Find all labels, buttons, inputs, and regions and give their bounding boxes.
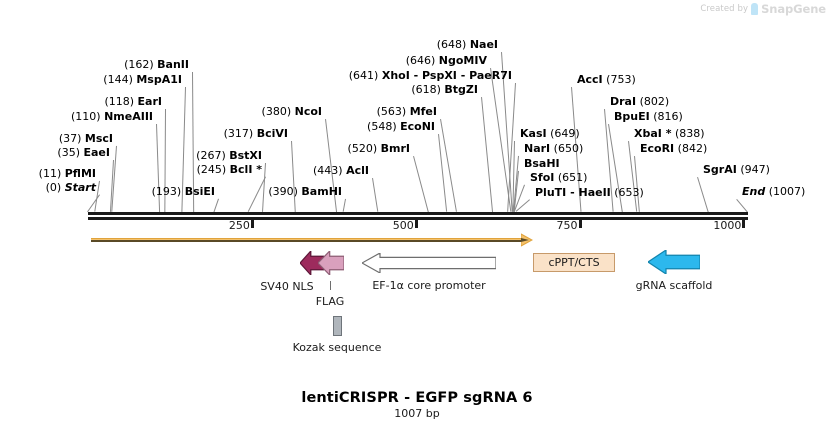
ruler-label-1000: 1000 <box>713 219 741 232</box>
enzyme-position: (11) <box>39 167 65 180</box>
leader-line <box>481 97 493 212</box>
flag-connector-tick <box>330 281 331 290</box>
feature-flag[interactable] <box>318 251 344 275</box>
enzyme-label-ngomiv[interactable]: (646) NgoMIV <box>406 55 487 67</box>
enzyme-name: XhoI - PspXI - PaeR7I <box>382 69 512 82</box>
enzyme-name: BanII <box>157 58 189 71</box>
snapgene-logo-icon <box>751 3 758 15</box>
enzyme-name: BsiEI <box>185 185 215 198</box>
enzyme-label-drai[interactable]: DraI (802) <box>610 96 669 108</box>
enzyme-label-acci[interactable]: AccI (753) <box>577 74 636 86</box>
enzyme-label-nmeaiii[interactable]: (110) NmeAIII <box>71 111 153 123</box>
feature-grna-scaffold[interactable] <box>648 250 700 274</box>
enzyme-position: (380) <box>262 105 295 118</box>
ruler-label-250: 250 <box>229 219 250 232</box>
leader-line <box>440 119 457 212</box>
enzyme-label-bamhi[interactable]: (390) BamHI <box>268 186 342 198</box>
enzyme-label-start[interactable]: (0) Start <box>46 182 96 194</box>
enzyme-position: (37) <box>59 132 85 145</box>
enzyme-position: (1007) <box>765 185 805 198</box>
enzyme-position: (162) <box>124 58 157 71</box>
enzyme-position: (548) <box>367 120 400 133</box>
feature-kozak-sequence[interactable] <box>333 316 342 336</box>
enzyme-label-ecori[interactable]: EcoRI (842) <box>640 143 707 155</box>
credit-brand: SnapGene <box>761 2 826 16</box>
enzyme-name: Start <box>65 181 96 194</box>
leader-line <box>490 68 511 212</box>
enzyme-label-msci[interactable]: (37) MscI <box>59 133 113 145</box>
enzyme-label-nari[interactable]: NarI (650) <box>524 143 583 155</box>
feature-label-ef1a-promoter: EF-1α core promoter <box>372 279 485 292</box>
enzyme-position: (646) <box>406 54 439 67</box>
enzyme-name: SgrAI <box>703 163 737 176</box>
enzyme-position: (838) <box>671 127 704 140</box>
enzyme-position: (520) <box>348 142 381 155</box>
enzyme-label-banii[interactable]: (162) BanII <box>124 59 189 71</box>
enzyme-position: (802) <box>636 95 669 108</box>
leader-line <box>343 199 346 212</box>
enzyme-label-bstxi[interactable]: (267) BstXI <box>196 150 262 162</box>
enzyme-position: (648) <box>437 38 470 51</box>
enzyme-position: (650) <box>550 142 583 155</box>
enzyme-position: (193) <box>152 185 185 198</box>
enzyme-label-ncoi[interactable]: (380) NcoI <box>262 106 322 118</box>
enzyme-label-pluti-haeii[interactable]: PluTI - HaeII (653) <box>535 187 644 199</box>
enzyme-name: PluTI - HaeII <box>535 186 611 199</box>
enzyme-name: XbaI * <box>634 127 671 140</box>
orf-arrow-head <box>521 233 533 247</box>
enzyme-name: BpuEI <box>614 110 650 123</box>
ruler-label-750: 750 <box>557 219 578 232</box>
enzyme-label-bsahi[interactable]: BsaHI <box>524 158 560 170</box>
enzyme-label-xbai[interactable]: XbaI * (838) <box>634 128 705 140</box>
enzyme-position: (35) <box>57 146 83 159</box>
enzyme-label-btgzi[interactable]: (618) BtgZI <box>411 84 478 96</box>
enzyme-position: (443) <box>313 164 346 177</box>
enzyme-position: (618) <box>411 83 444 96</box>
credit-prefix: Created by <box>700 4 748 14</box>
enzyme-label-xhoi-pspxi-paer7i[interactable]: (641) XhoI - PspXI - PaeR7I <box>349 70 512 82</box>
snapgene-credit: Created by SnapGene <box>700 2 826 16</box>
leader-line <box>156 124 160 212</box>
enzyme-name: MscI <box>85 132 113 145</box>
enzyme-name: DraI <box>610 95 636 108</box>
enzyme-label-bpuei[interactable]: BpuEI (816) <box>614 111 683 123</box>
enzyme-position: (390) <box>268 185 301 198</box>
enzyme-label-econi[interactable]: (548) EcoNI <box>367 121 435 133</box>
backbone-line-bottom <box>88 217 748 220</box>
enzyme-label-eaei[interactable]: (35) EaeI <box>57 147 110 159</box>
orf-arrow-shaft[interactable] <box>91 238 522 242</box>
enzyme-name: NgoMIV <box>439 54 487 67</box>
enzyme-name: BmrI <box>381 142 410 155</box>
enzyme-name: EaeI <box>84 146 111 159</box>
leader-line <box>372 178 378 212</box>
enzyme-position: (0) <box>46 181 65 194</box>
enzyme-name: End <box>742 185 765 198</box>
ruler-label-500: 500 <box>393 219 414 232</box>
enzyme-position: (641) <box>349 69 382 82</box>
enzyme-label-mfei[interactable]: (563) MfeI <box>377 106 437 118</box>
ruler-tick-750 <box>579 220 582 228</box>
enzyme-name: AccI <box>577 73 603 86</box>
enzyme-position: (753) <box>603 73 636 86</box>
enzyme-label-bcli[interactable]: (245) BclI * <box>197 164 262 176</box>
enzyme-position: (947) <box>737 163 770 176</box>
enzyme-position: (649) <box>547 127 580 140</box>
feature-ef1a-promoter[interactable] <box>362 253 496 273</box>
enzyme-position: (816) <box>650 110 683 123</box>
enzyme-name: SfoI <box>530 171 554 184</box>
enzyme-position: (842) <box>674 142 707 155</box>
feature-cppt-cts[interactable]: cPPT/CTS <box>533 253 615 272</box>
enzyme-label-naei[interactable]: (648) NaeI <box>437 39 498 51</box>
enzyme-label-sgrai[interactable]: SgrAI (947) <box>703 164 770 176</box>
enzyme-position: (653) <box>611 186 644 199</box>
leader-line <box>736 199 748 213</box>
plasmid-map-canvas: Created by SnapGene (0) Start(11) PflMI(… <box>0 0 834 429</box>
enzyme-name: NaeI <box>470 38 498 51</box>
enzyme-label-bcivi[interactable]: (317) BciVI <box>224 128 288 140</box>
enzyme-position: (267) <box>196 149 229 162</box>
feature-label-sv40-nls: SV40 NLS <box>260 280 313 293</box>
enzyme-name: MspA1I <box>136 73 182 86</box>
enzyme-label-sfoi[interactable]: SfoI (651) <box>530 172 587 184</box>
feature-label-flag: FLAG <box>316 295 345 308</box>
enzyme-name: EcoNI <box>400 120 435 133</box>
leader-line <box>438 134 447 212</box>
page-subtitle: 1007 bp <box>0 407 834 420</box>
enzyme-label-acli[interactable]: (443) AclI <box>313 165 369 177</box>
enzyme-position: (144) <box>103 73 136 86</box>
enzyme-name: MfeI <box>410 105 437 118</box>
enzyme-position: (118) <box>104 95 137 108</box>
enzyme-position: (110) <box>71 110 104 123</box>
enzyme-name: NcoI <box>295 105 322 118</box>
enzyme-position: (563) <box>377 105 410 118</box>
page-title: lentiCRISPR - EGFP sgRNA 6 <box>0 390 834 406</box>
leader-line <box>291 141 296 212</box>
enzyme-label-end[interactable]: End (1007) <box>742 186 805 198</box>
enzyme-label-pflmi[interactable]: (11) PflMI <box>39 168 96 180</box>
ruler-tick-500 <box>415 220 418 228</box>
enzyme-name: BciVI <box>257 127 288 140</box>
leader-line <box>214 199 219 212</box>
enzyme-label-bmri[interactable]: (520) BmrI <box>348 143 410 155</box>
enzyme-label-kasi[interactable]: KasI (649) <box>520 128 580 140</box>
enzyme-name: BsaHI <box>524 157 560 170</box>
leader-line <box>413 156 429 212</box>
enzyme-position: (651) <box>554 171 587 184</box>
feature-label-kozak-sequence: Kozak sequence <box>293 341 382 354</box>
enzyme-name: NarI <box>524 142 550 155</box>
enzyme-label-bsiei[interactable]: (193) BsiEI <box>152 186 215 198</box>
enzyme-name: EcoRI <box>640 142 674 155</box>
enzyme-name: AclI <box>346 164 369 177</box>
feature-label-grna-scaffold: gRNA scaffold <box>636 279 713 292</box>
enzyme-name: BclI * <box>230 163 262 176</box>
enzyme-name: BstXI <box>229 149 262 162</box>
enzyme-name: KasI <box>520 127 547 140</box>
enzyme-name: NmeAIII <box>104 110 153 123</box>
enzyme-name: PflMI <box>65 167 96 180</box>
enzyme-name: EarI <box>138 95 162 108</box>
enzyme-name: BamHI <box>301 185 342 198</box>
ruler-tick-1000 <box>742 220 745 228</box>
enzyme-position: (317) <box>224 127 257 140</box>
leader-line <box>262 163 266 212</box>
enzyme-label-mspa1i[interactable]: (144) MspA1I <box>103 74 182 86</box>
leader-line <box>697 177 709 212</box>
enzyme-label-eari[interactable]: (118) EarI <box>104 96 162 108</box>
enzyme-name: BtgZI <box>444 83 478 96</box>
enzyme-position: (245) <box>197 163 230 176</box>
ruler-tick-250 <box>251 220 254 228</box>
